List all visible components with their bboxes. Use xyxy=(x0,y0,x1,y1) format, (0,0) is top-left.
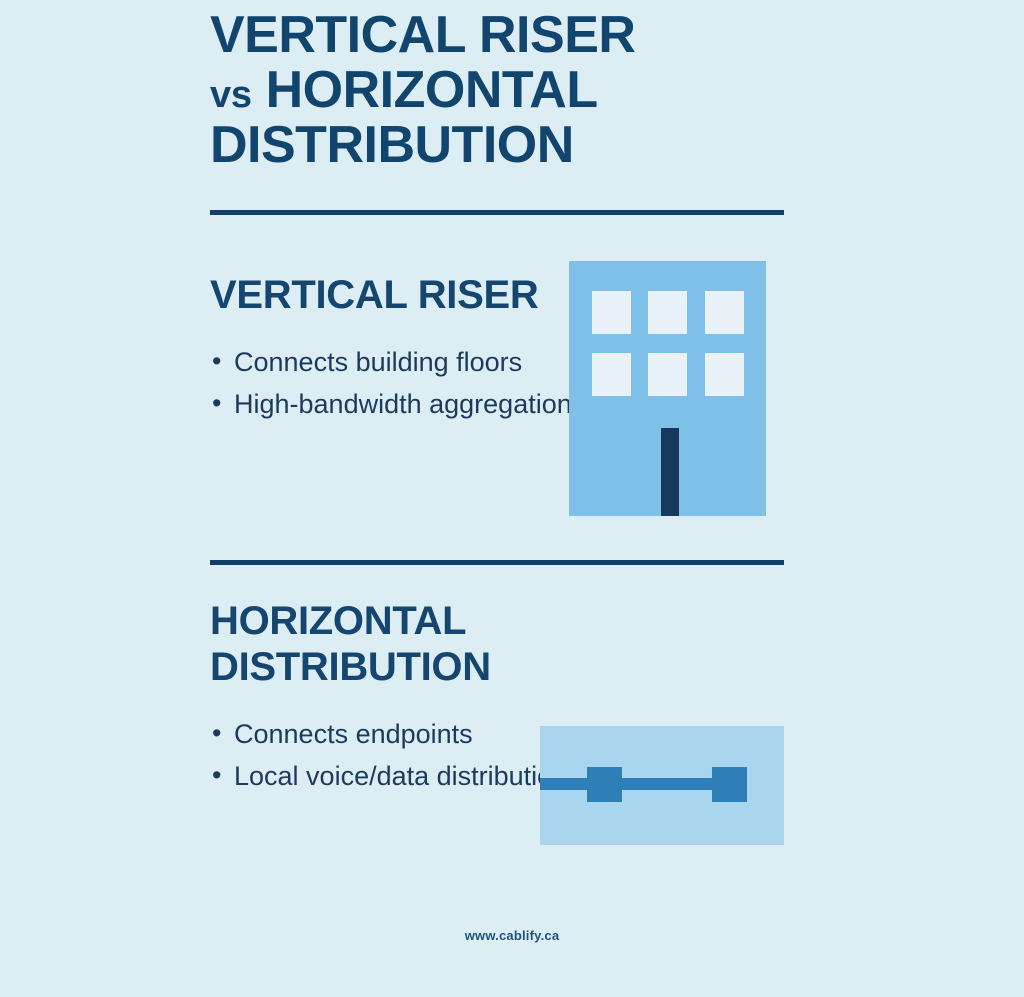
page-title: VERTICAL RISER vs HORIZONTAL DISTRIBUTIO… xyxy=(210,8,810,173)
title-line-2-main: HORIZONTAL xyxy=(266,61,598,119)
endpoint-node-icon xyxy=(587,767,622,802)
list-item: Connects building floors xyxy=(210,344,594,380)
building-window-icon xyxy=(592,291,631,334)
horizontal-link-icon xyxy=(540,726,784,845)
section-heading-vertical-riser: VERTICAL RISER xyxy=(210,272,540,318)
footer-url: www.cablify.ca xyxy=(0,928,1024,943)
title-vs-word: vs xyxy=(210,74,252,116)
title-line-2: vs HORIZONTAL xyxy=(210,63,810,118)
title-line-1: VERTICAL RISER xyxy=(210,8,810,63)
vertical-riser-bar-icon xyxy=(661,428,679,516)
endpoint-node-icon xyxy=(712,767,747,802)
infographic-canvas: VERTICAL RISER vs HORIZONTAL DISTRIBUTIO… xyxy=(0,0,1024,997)
building-window-icon xyxy=(648,353,687,396)
divider-top xyxy=(210,210,784,215)
building-window-icon xyxy=(705,353,744,396)
section-heading-horizontal-distribution: HORIZONTAL DISTRIBUTION xyxy=(210,598,540,690)
divider-middle xyxy=(210,560,784,565)
building-window-icon xyxy=(648,291,687,334)
list-item: Connects endpoints xyxy=(210,716,594,752)
list-item: Local voice/data distribution xyxy=(210,758,594,794)
building-window-icon xyxy=(705,291,744,334)
building-window-icon xyxy=(592,353,631,396)
title-line-3: DISTRIBUTION xyxy=(210,118,810,173)
list-item: High-bandwidth aggregation xyxy=(210,386,594,422)
building-icon xyxy=(569,261,766,516)
